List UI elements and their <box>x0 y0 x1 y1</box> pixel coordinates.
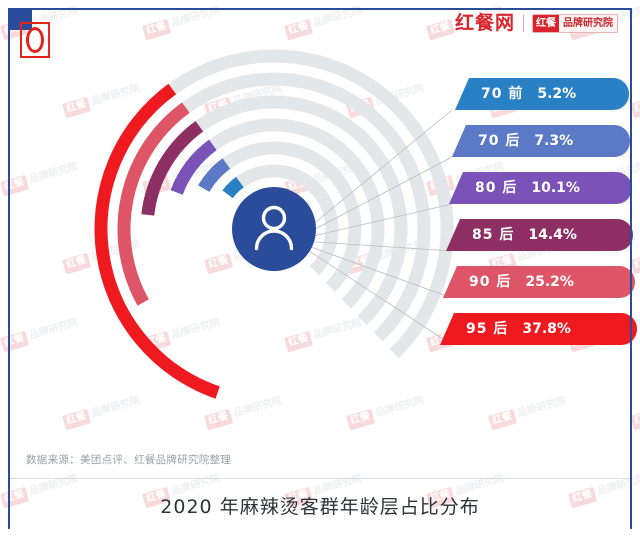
brand-name: 红餐网 <box>455 14 515 33</box>
center-avatar <box>232 187 316 271</box>
arc-segment[interactable] <box>204 163 227 188</box>
legend-pill-text: 70 后7.3% <box>478 134 573 148</box>
legend-value: 37.8% <box>522 322 571 336</box>
brand-divider <box>523 15 524 32</box>
legend-pill-body: 90 后25.2% <box>443 266 635 298</box>
legend-pill-body: 80 后10.1% <box>449 172 632 204</box>
legend-category: 70 前 <box>481 87 523 101</box>
legend-category: 80 后 <box>475 181 517 195</box>
frame-top-border <box>8 8 632 10</box>
brand-header: 红餐网 红餐 品牌研究院 <box>455 14 618 33</box>
legend-value: 10.1% <box>531 181 580 195</box>
source-note: 数据来源：美团点评、红餐品牌研究院整理 <box>26 452 231 467</box>
legend-pill-text: 85 后14.4% <box>472 228 577 242</box>
frame-left-border <box>8 8 10 529</box>
zero-oval-logo-icon <box>20 22 50 58</box>
arc-track-group <box>172 56 447 353</box>
legend-category: 70 后 <box>478 134 520 148</box>
legend-pill-body: 95 后37.8% <box>440 313 637 345</box>
badge-text: 品牌研究院 <box>559 15 617 32</box>
badge-mark: 红餐 <box>533 15 559 32</box>
legend-pill[interactable]: 70 前5.2% <box>455 78 629 110</box>
legend-pill-text: 90 后25.2% <box>469 275 574 289</box>
legend-pill-text: 95 后37.8% <box>466 322 571 336</box>
legend-pill-body: 85 后14.4% <box>446 219 633 251</box>
frame-right-border <box>630 8 632 529</box>
infographic-canvas: 红餐品牌研究院红餐品牌研究院红餐品牌研究院红餐品牌研究院红餐品牌研究院红餐品牌研… <box>0 0 640 537</box>
brand-badge: 红餐 品牌研究院 <box>532 14 618 33</box>
arc-segment[interactable] <box>228 182 240 194</box>
legend-pill[interactable]: 85 后14.4% <box>446 219 633 251</box>
legend-pill[interactable]: 95 后37.8% <box>440 313 637 345</box>
legend-pill-body: 70 前5.2% <box>455 78 629 110</box>
legend-pill[interactable]: 70 后7.3% <box>452 125 630 157</box>
legend-category: 90 后 <box>469 275 511 289</box>
legend-value: 14.4% <box>528 228 577 242</box>
chart-title: 2020 年麻辣烫客群年龄层占比分布 <box>0 492 640 519</box>
legend-pill-text: 70 前5.2% <box>481 87 576 101</box>
legend-pill[interactable]: 90 后25.2% <box>443 266 635 298</box>
legend-value: 5.2% <box>537 87 576 101</box>
legend-pill[interactable]: 80 后10.1% <box>449 172 632 204</box>
legend-category: 85 后 <box>472 228 514 242</box>
legend-value: 7.3% <box>534 134 573 148</box>
legend-pill-body: 70 后7.3% <box>452 125 630 157</box>
legend-pill-text: 80 后10.1% <box>475 181 580 195</box>
legend-value: 25.2% <box>525 275 574 289</box>
footer-divider <box>10 478 630 479</box>
legend-category: 95 后 <box>466 322 508 336</box>
